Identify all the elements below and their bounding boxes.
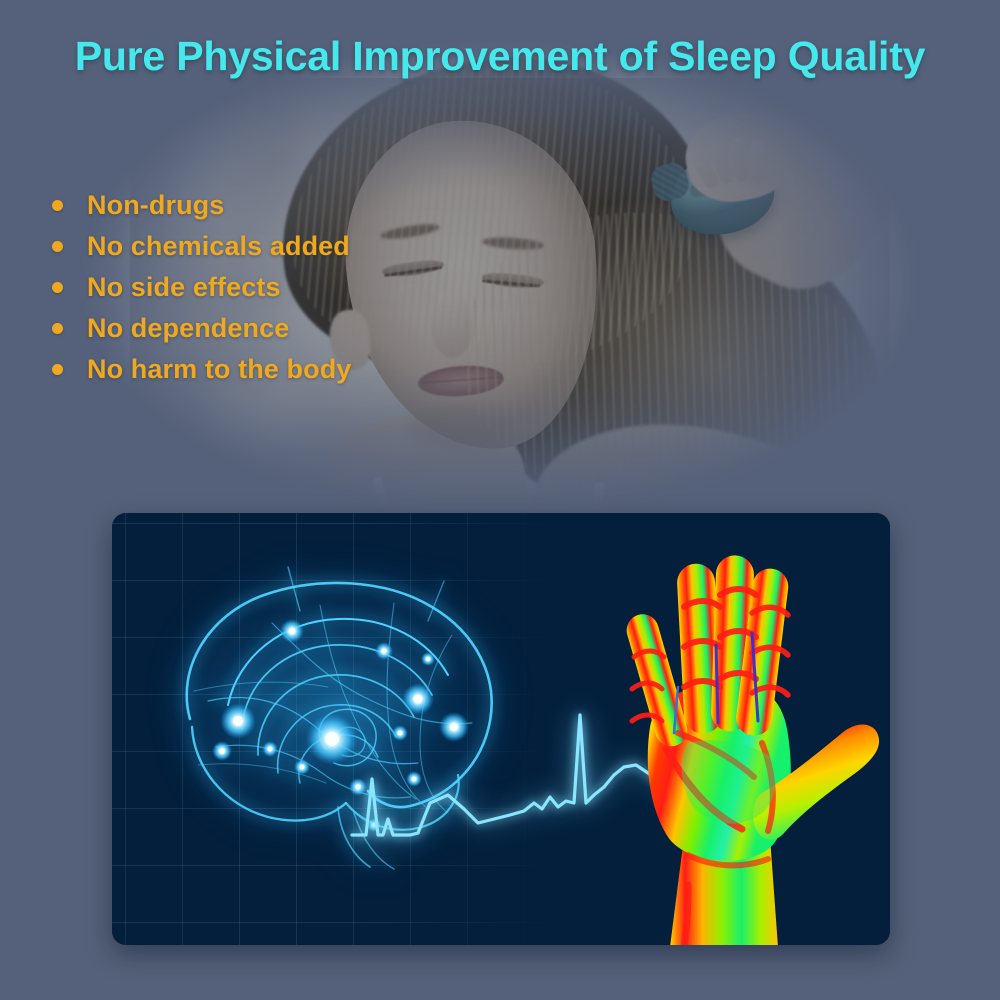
list-item: No dependence <box>52 309 351 347</box>
bullet-dot-icon <box>52 241 63 252</box>
list-item: Non-drugs <box>52 186 351 224</box>
list-item: No side effects <box>52 268 351 306</box>
benefit-label: No harm to the body <box>87 354 351 385</box>
list-item: No chemicals added <box>52 227 351 265</box>
benefits-list: Non-drugs No chemicals added No side eff… <box>52 186 351 391</box>
bullet-dot-icon <box>52 364 63 375</box>
bullet-dot-icon <box>52 323 63 334</box>
benefit-label: No chemicals added <box>87 231 350 262</box>
bullet-dot-icon <box>52 282 63 293</box>
poster-canvas: Pure Physical Improvement of Sleep Quali… <box>0 0 1000 1000</box>
list-item: No harm to the body <box>52 350 351 388</box>
brain-and-thermal-hand-panel <box>112 513 890 945</box>
bullet-dot-icon <box>52 200 63 211</box>
benefit-label: No dependence <box>87 313 289 344</box>
page-title: Pure Physical Improvement of Sleep Quali… <box>0 33 1000 80</box>
benefit-label: Non-drugs <box>87 190 224 221</box>
benefit-label: No side effects <box>87 272 281 303</box>
thermal-imaging-hand <box>592 537 890 945</box>
